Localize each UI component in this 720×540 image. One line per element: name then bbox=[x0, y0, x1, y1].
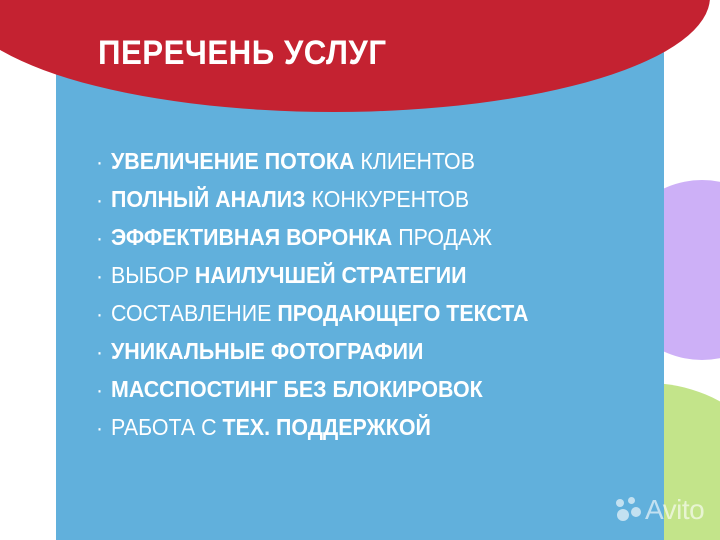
service-item-label: РАБОТА С ТЕХ. ПОДДЕРЖКОЙ bbox=[111, 416, 431, 439]
bullet-icon: · bbox=[96, 190, 103, 211]
bullet-icon: · bbox=[96, 342, 103, 363]
service-item-label: УВЕЛИЧЕНИЕ ПОТОКА КЛИЕНТОВ bbox=[111, 150, 475, 173]
service-detail: КОНКУРЕНТОВ bbox=[306, 186, 470, 212]
bullet-icon: · bbox=[96, 152, 103, 173]
avito-wordmark: Avito bbox=[645, 496, 704, 524]
service-detail: ПРОДАЖ bbox=[392, 224, 492, 250]
page-title: ПЕРЕЧЕНЬ УСЛУГ bbox=[98, 36, 387, 70]
service-item: ·ВЫБОР НАИЛУЧШЕЙ СТРАТЕГИИ bbox=[96, 264, 636, 302]
service-emphasis: ПРОДАЮЩЕГО ТЕКСТА bbox=[277, 300, 528, 326]
service-item: ·РАБОТА С ТЕХ. ПОДДЕРЖКОЙ bbox=[96, 416, 636, 454]
service-item: ·ЭФФЕКТИВНАЯ ВОРОНКА ПРОДАЖ bbox=[96, 226, 636, 264]
avito-watermark: Avito bbox=[616, 496, 704, 524]
services-poster: ПЕРЕЧЕНЬ УСЛУГ ·УВЕЛИЧЕНИЕ ПОТОКА КЛИЕНТ… bbox=[0, 0, 720, 540]
service-item-label: ЭФФЕКТИВНАЯ ВОРОНКА ПРОДАЖ bbox=[111, 226, 492, 249]
service-detail: РАБОТА С bbox=[111, 414, 222, 440]
service-item-label: МАССПОСТИНГ БЕЗ БЛОКИРОВОК bbox=[111, 378, 483, 401]
avito-dots-icon bbox=[616, 497, 642, 523]
bullet-icon: · bbox=[96, 266, 103, 287]
service-emphasis: УВЕЛИЧЕНИЕ ПОТОКА bbox=[111, 148, 354, 174]
service-item: ·МАССПОСТИНГ БЕЗ БЛОКИРОВОК bbox=[96, 378, 636, 416]
service-detail: СОСТАВЛЕНИЕ bbox=[111, 300, 277, 326]
service-detail: ВЫБОР bbox=[111, 262, 195, 288]
service-item: ·СОСТАВЛЕНИЕ ПРОДАЮЩЕГО ТЕКСТА bbox=[96, 302, 636, 340]
service-item-label: ВЫБОР НАИЛУЧШЕЙ СТРАТЕГИИ bbox=[111, 264, 467, 287]
service-detail: КЛИЕНТОВ bbox=[354, 148, 475, 174]
service-emphasis: ЭФФЕКТИВНАЯ ВОРОНКА bbox=[111, 224, 392, 250]
services-list: ·УВЕЛИЧЕНИЕ ПОТОКА КЛИЕНТОВ·ПОЛНЫЙ АНАЛИ… bbox=[96, 150, 636, 454]
service-item-label: ПОЛНЫЙ АНАЛИЗ КОНКУРЕНТОВ bbox=[111, 188, 469, 211]
service-item: ·УНИКАЛЬНЫЕ ФОТОГРАФИИ bbox=[96, 340, 636, 378]
service-item-label: СОСТАВЛЕНИЕ ПРОДАЮЩЕГО ТЕКСТА bbox=[111, 302, 528, 325]
bullet-icon: · bbox=[96, 418, 103, 439]
service-emphasis: МАССПОСТИНГ БЕЗ БЛОКИРОВОК bbox=[111, 376, 483, 402]
bullet-icon: · bbox=[96, 380, 103, 401]
service-emphasis: ТЕХ. ПОДДЕРЖКОЙ bbox=[222, 414, 430, 440]
service-item: ·УВЕЛИЧЕНИЕ ПОТОКА КЛИЕНТОВ bbox=[96, 150, 636, 188]
service-emphasis: УНИКАЛЬНЫЕ ФОТОГРАФИИ bbox=[111, 338, 423, 364]
bullet-icon: · bbox=[96, 228, 103, 249]
service-item: ·ПОЛНЫЙ АНАЛИЗ КОНКУРЕНТОВ bbox=[96, 188, 636, 226]
bullet-icon: · bbox=[96, 304, 103, 325]
service-emphasis: ПОЛНЫЙ АНАЛИЗ bbox=[111, 186, 306, 212]
service-emphasis: НАИЛУЧШЕЙ СТРАТЕГИИ bbox=[195, 262, 467, 288]
service-item-label: УНИКАЛЬНЫЕ ФОТОГРАФИИ bbox=[111, 340, 423, 363]
